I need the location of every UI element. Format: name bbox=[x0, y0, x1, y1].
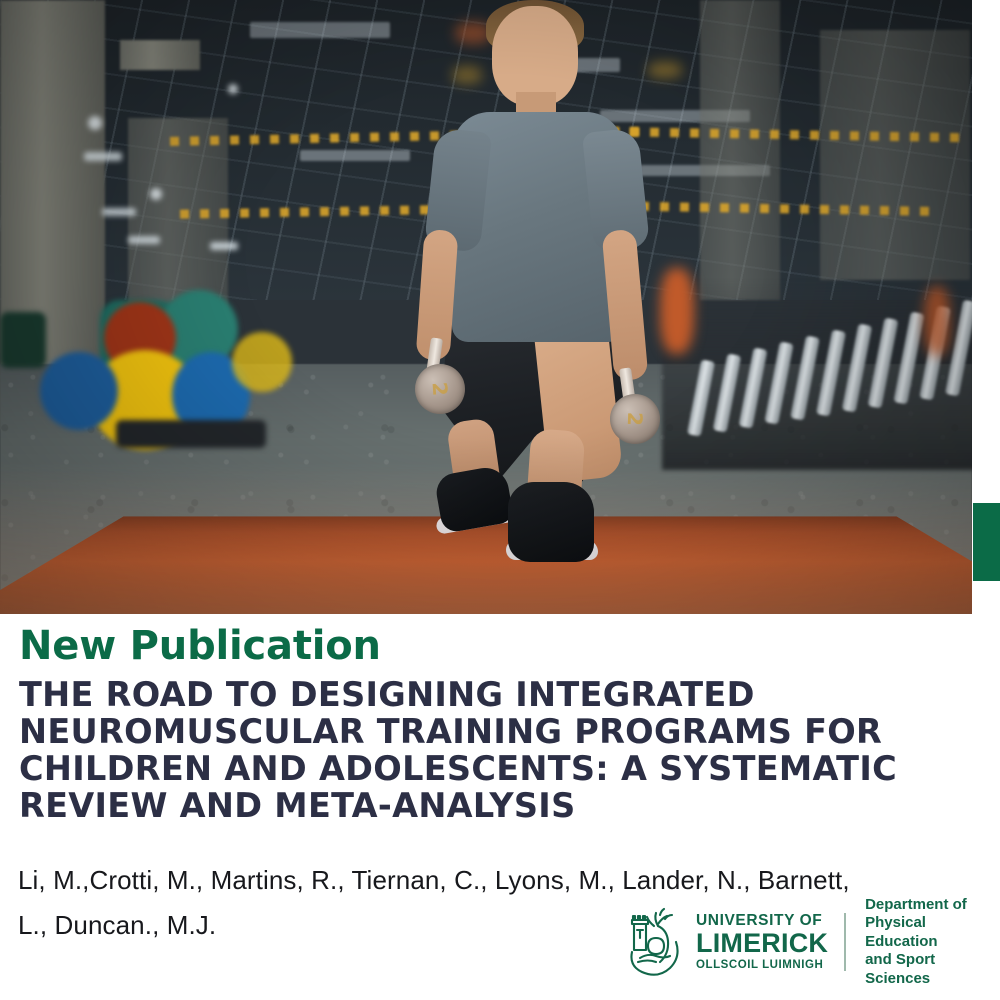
logo-divider bbox=[844, 913, 846, 971]
photo-vignette bbox=[0, 0, 972, 614]
ul-crest-icon bbox=[624, 906, 686, 978]
publication-announcement-card: 2 2 New Publication THE ROAD TO DESIGNIN… bbox=[0, 0, 1000, 1000]
kicker-label: New Publication bbox=[19, 623, 381, 669]
university-line-3: OLLSCOIL LUIMNIGH bbox=[696, 960, 828, 972]
green-accent-bar bbox=[973, 503, 1000, 581]
university-logo: UNIVERSITY OF LIMERICK OLLSCOIL LUIMNIGH… bbox=[624, 903, 986, 981]
university-line-2: LIMERICK bbox=[696, 930, 828, 957]
university-line-1: UNIVERSITY OF bbox=[696, 913, 828, 929]
department-name: Department of Physical Education and Spo… bbox=[865, 896, 986, 989]
publication-title: THE ROAD TO DESIGNING INTEGRATED NEUROMU… bbox=[19, 676, 929, 824]
university-wordmark: UNIVERSITY OF LIMERICK OLLSCOIL LUIMNIGH bbox=[696, 913, 828, 971]
hero-photo: 2 2 bbox=[0, 0, 972, 614]
